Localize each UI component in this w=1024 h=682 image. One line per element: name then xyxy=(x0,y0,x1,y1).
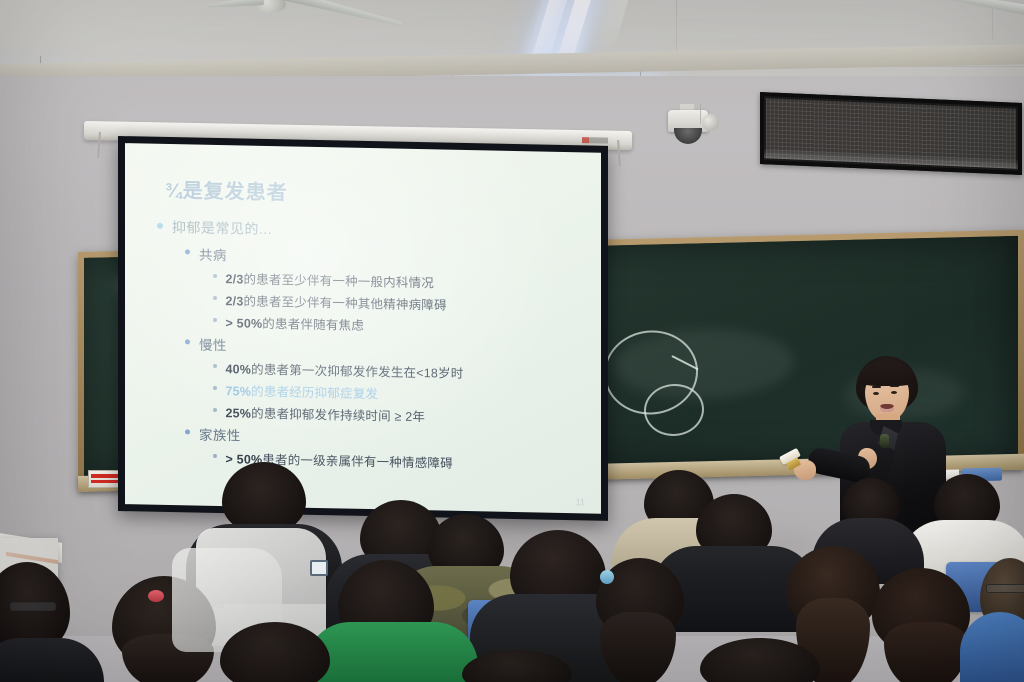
bullet-dot-icon xyxy=(213,386,217,390)
hair-clip xyxy=(600,570,614,584)
glasses-icon xyxy=(10,602,56,611)
lecturer-eyebrow xyxy=(872,386,881,388)
bullet-rest: 的患者经历抑郁症复发 xyxy=(251,385,378,402)
brand-logo xyxy=(582,137,608,143)
bullet-emphasis: 25% xyxy=(226,406,252,421)
bullet-rest: 的患者至少伴有一种其他精神病障碍 xyxy=(243,295,446,313)
bullet-dot-icon xyxy=(213,454,217,458)
bullet-dot-icon xyxy=(185,339,190,344)
lecturer-eye xyxy=(873,392,879,395)
glasses-icon xyxy=(986,584,1024,593)
bullet-text: 家族性 xyxy=(199,424,241,445)
bullet-emphasis: 2/3 xyxy=(226,294,244,308)
bullet-dot-icon xyxy=(157,223,163,229)
bullet-rest: 的患者伴随有焦虑 xyxy=(262,317,364,333)
projection-screen[interactable]: ¾是复发患者 抑郁是常见的... 共病 2/3的患者至少伴有一种一般内科情况 2… xyxy=(118,136,608,521)
bullet-emphasis: 2/3 xyxy=(226,272,244,286)
bullet-rest: 的患者抑郁发作持续时间 ≥ 2年 xyxy=(251,407,425,424)
ceiling-fan xyxy=(226,0,406,46)
projected-slide: ¾是复发患者 抑郁是常见的... 共病 2/3的患者至少伴有一种一般内科情况 2… xyxy=(125,143,601,514)
bullet-text: 慢性 xyxy=(199,334,227,355)
audience xyxy=(0,472,1024,682)
slide-title: ¾是复发患者 xyxy=(165,174,579,211)
bullet-text: 2/3的患者至少伴有一种其他精神病障碍 xyxy=(226,290,447,313)
hair-tie xyxy=(148,590,164,602)
bullet-text: > 50%的患者伴随有焦虑 xyxy=(226,312,364,334)
bullet-text: 75%的患者经历抑郁症复发 xyxy=(226,380,379,402)
ceiling-fan xyxy=(938,0,1024,34)
lecturer-mouth xyxy=(880,404,894,412)
bullet-dot-icon xyxy=(213,408,217,412)
bullet-dot-icon xyxy=(185,249,190,254)
lecturer-hair-fringe xyxy=(858,362,916,386)
student-shoulders-green xyxy=(306,622,478,682)
bullet-dot-icon xyxy=(213,296,217,300)
clip-on-microphone-icon xyxy=(880,434,889,448)
bullet-text: 抑郁是常见的... xyxy=(172,217,272,239)
slide-bullet-level2: 慢性 xyxy=(185,333,579,361)
student-shoulders xyxy=(0,638,104,682)
student-ponytail xyxy=(884,622,968,682)
bullet-rest: 的患者至少伴有一种一般内科情况 xyxy=(243,273,434,291)
bullet-text: 40%的患者第一次抑郁发作发生在<18岁时 xyxy=(226,358,464,382)
student-shoulders xyxy=(960,612,1024,682)
bullet-text: 25%的患者抑郁发作持续时间 ≥ 2年 xyxy=(226,402,426,425)
slide-bullet-level1: 抑郁是常见的... xyxy=(157,217,579,245)
bullet-rest: 的患者第一次抑郁发作发生在<18岁时 xyxy=(251,363,463,381)
bag-logo-icon xyxy=(310,560,328,576)
bullet-emphasis: 40% xyxy=(226,362,252,377)
lecturer-eyebrow xyxy=(890,385,899,387)
camera-wire xyxy=(700,104,701,124)
lecture-hall-photo: ¾是复发患者 抑郁是常见的... 共病 2/3的患者至少伴有一种一般内科情况 2… xyxy=(0,0,1024,682)
bullet-emphasis: 75% xyxy=(226,384,252,399)
bullet-dot-icon xyxy=(213,364,217,368)
led-display-panel xyxy=(760,92,1022,175)
bullet-text: 2/3的患者至少伴有一种一般内科情况 xyxy=(226,268,435,291)
slide-bullet-level2: 共病 xyxy=(185,243,579,271)
bullet-emphasis: > 50% xyxy=(226,316,263,331)
slide-bullet-level2: 家族性 xyxy=(185,423,579,451)
bullet-dot-icon xyxy=(185,429,190,434)
bullet-dot-icon xyxy=(213,274,217,278)
dome-security-camera xyxy=(660,104,720,152)
student-ponytail xyxy=(600,612,676,682)
lecturer-eye xyxy=(891,391,897,394)
bullet-rest: 患者的一级亲属伴有一种情感障碍 xyxy=(262,453,453,471)
bullet-text: 共病 xyxy=(199,244,227,265)
bullet-dot-icon xyxy=(213,318,217,322)
